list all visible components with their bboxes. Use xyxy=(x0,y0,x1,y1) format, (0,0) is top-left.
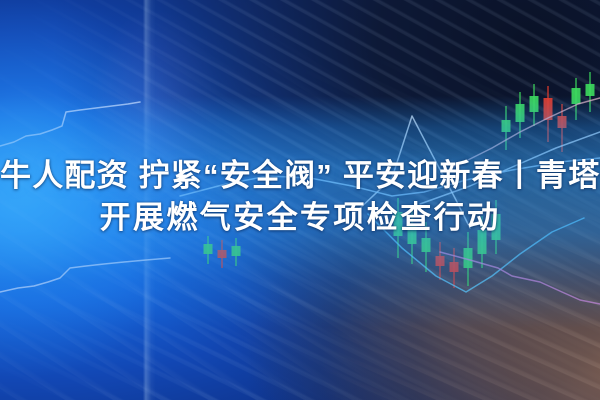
news-banner: 牛人配资 拧紧“安全阀” 平安迎新春丨青塔街道 开展燃气安全专项检查行动 xyxy=(0,0,600,400)
headline-block: 牛人配资 拧紧“安全阀” 平安迎新春丨青塔街道 开展燃气安全专项检查行动 xyxy=(0,155,600,239)
headline-line-1: 牛人配资 拧紧“安全阀” 平安迎新春丨青塔街道 xyxy=(0,155,600,197)
headline-line-2: 开展燃气安全专项检查行动 xyxy=(0,197,600,239)
